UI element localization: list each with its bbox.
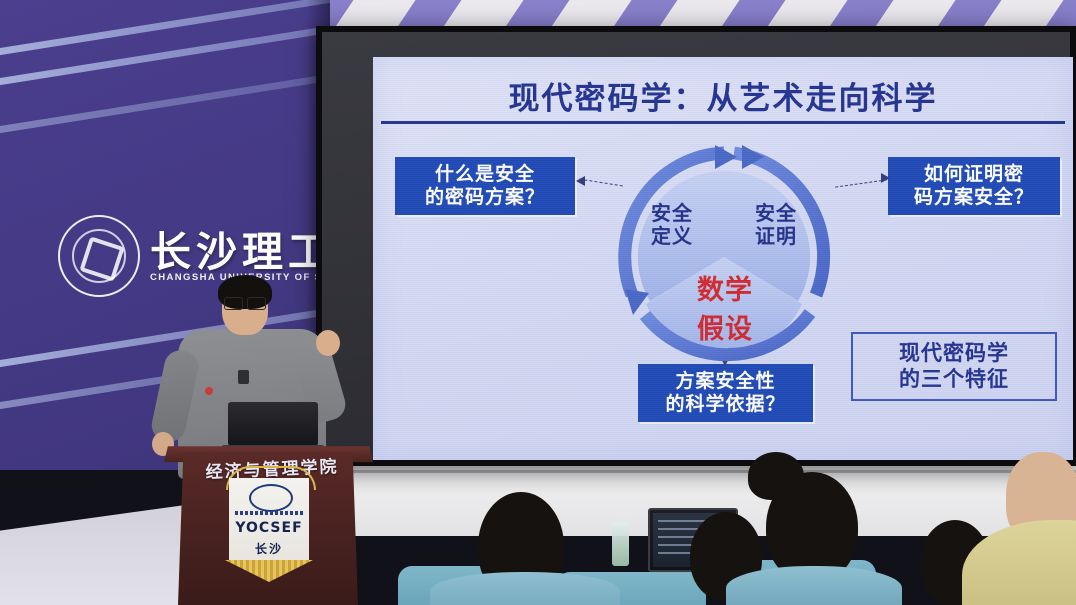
lecture-hall-scene: 长沙理工大学 CHANGSHA UNIVERSITY OF SCIENCE AN…: [0, 0, 1076, 605]
presentation-slide: 现代密码学：从艺术走向科学 什么是安全 的密码方案？ 如何证明密 码方案安全？ …: [373, 57, 1073, 460]
segment-label-math-assumption: 数学 假设: [667, 271, 783, 349]
callout-scientific-basis: 方案安全性 的科学依据？: [638, 364, 813, 422]
segment-label-security-proof: 安全 证明: [739, 203, 813, 249]
speaker-microphone-icon: [238, 370, 249, 384]
callout-left-line1: 什么是安全: [404, 163, 566, 186]
counter-edge: [330, 470, 1076, 473]
speaker-badge: [205, 387, 213, 395]
arrowhead-bottom-left: [625, 289, 649, 315]
ccf-seal-icon: [249, 484, 293, 512]
callout-right-line1: 如何证明密: [897, 163, 1051, 186]
callout-left-line2: 的密码方案？: [404, 186, 566, 209]
speaker-right-hand: [316, 330, 340, 356]
university-emblem-icon: [58, 215, 140, 297]
callout-three-features: 现代密码学 的三个特征: [851, 332, 1057, 401]
podium-laptop: [228, 402, 318, 446]
audience-head: [748, 452, 804, 500]
arrowhead-top-left: [715, 145, 737, 169]
water-bottle: [612, 522, 629, 566]
callout-bottom-line2: 的科学依据？: [647, 393, 804, 416]
segment-label-security-definition: 安全 定义: [635, 203, 709, 249]
callout-outline-line1: 现代密码学: [861, 341, 1047, 367]
title-divider: [381, 121, 1065, 124]
audience-shoulders: [726, 566, 902, 605]
callout-what-is-secure-scheme: 什么是安全 的密码方案？: [395, 157, 575, 215]
callout-outline-line2: 的三个特征: [861, 367, 1047, 393]
connector-right-arrowhead: [881, 173, 890, 183]
cycle-diagram: 安全 定义 安全 证明 数学 假设: [605, 143, 843, 371]
slide-title: 现代密码学：从艺术走向科学: [373, 73, 1073, 118]
callout-how-to-prove-security: 如何证明密 码方案安全？: [888, 157, 1060, 215]
pennant-city: 长沙: [229, 540, 309, 557]
callout-bottom-line1: 方案安全性: [647, 370, 804, 393]
callout-right-line2: 码方案安全？: [897, 186, 1051, 209]
speaker-glasses-icon: [224, 297, 266, 308]
audience-shoulders: [430, 572, 620, 605]
pennant-subtitle: [235, 511, 303, 515]
university-name-cn: 长沙理工大学: [150, 218, 330, 278]
pennant-org: YOCSEF: [229, 520, 309, 536]
connector-left-arrowhead: [576, 176, 585, 186]
